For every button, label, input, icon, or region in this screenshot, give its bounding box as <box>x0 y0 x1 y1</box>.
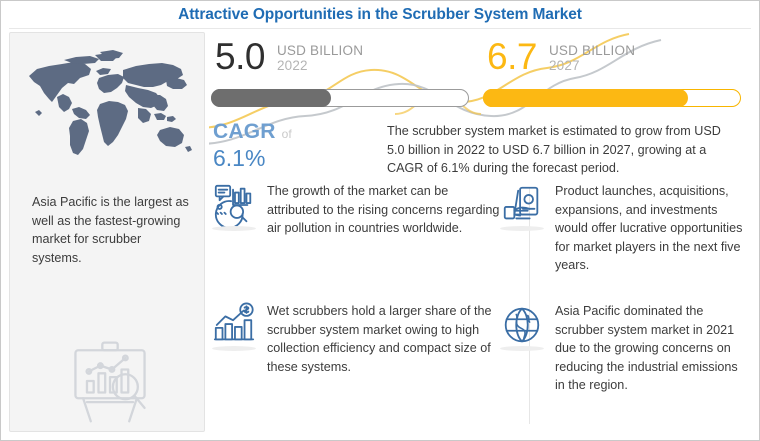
insight-card: Product launches, acquisitions, expansio… <box>499 182 753 275</box>
main-content: 5.0 USD BILLION 2022 6.7 USD BILLION 202… <box>209 32 753 432</box>
globe-icon <box>499 302 545 348</box>
progress-fill-2027 <box>483 89 688 107</box>
stat-year-2027: 2027 <box>549 58 635 74</box>
cagr-value: 6.1% <box>213 145 383 171</box>
insight-cards: The growth of the market can be attribut… <box>209 182 753 430</box>
progress-bar-2027 <box>483 89 741 107</box>
insight-card-text: Product launches, acquisitions, expansio… <box>555 182 747 275</box>
stat-unit-2022: USD BILLION 2022 <box>277 38 363 74</box>
icon-shadow <box>500 346 544 351</box>
title-divider <box>9 28 751 29</box>
stat-unit-label-2027: USD BILLION <box>549 43 635 58</box>
cagr-block: CAGR of 6.1% <box>213 120 383 171</box>
world-map-icon <box>20 47 196 167</box>
icon-shadow <box>500 226 544 231</box>
market-analytics-icon <box>211 182 257 228</box>
stat-unit-label-2022: USD BILLION <box>277 43 363 58</box>
left-highlight-text: Asia Pacific is the largest as well as t… <box>32 193 192 267</box>
page-title: Attractive Opportunities in the Scrubber… <box>178 6 582 24</box>
cash-money-icon <box>499 182 545 228</box>
insight-card: Asia Pacific dominated the scrubber syst… <box>499 302 753 395</box>
title-bar: Attractive Opportunities in the Scrubber… <box>1 1 759 28</box>
progress-fill-2022 <box>211 89 331 107</box>
insight-card-text: The growth of the market can be attribut… <box>267 182 503 238</box>
insight-card-text: Asia Pacific dominated the scrubber syst… <box>555 302 747 395</box>
left-region-panel: Asia Pacific is the largest as well as t… <box>9 32 205 432</box>
progress-bar-2022 <box>211 89 469 107</box>
stat-2022: 5.0 USD BILLION 2022 <box>209 38 477 116</box>
market-description: The scrubber system market is estimated … <box>387 122 739 178</box>
insight-card-text: Wet scrubbers hold a larger share of the… <box>267 302 503 376</box>
stat-value-2022: 5.0 <box>215 38 265 75</box>
stat-value-2027: 6.7 <box>487 38 537 75</box>
icon-shadow <box>212 346 256 351</box>
insight-card: The growth of the market can be attribut… <box>211 182 511 238</box>
stat-year-2022: 2022 <box>277 58 363 74</box>
bar-chart-growth-icon <box>211 302 257 348</box>
cagr-label: CAGR <box>213 120 276 144</box>
icon-shadow <box>212 226 256 231</box>
infographic-root: Attractive Opportunities in the Scrubber… <box>0 0 760 441</box>
presentation-analytics-icon <box>62 333 158 429</box>
stat-unit-2027: USD BILLION 2027 <box>549 38 635 74</box>
stat-2027: 6.7 USD BILLION 2027 <box>481 38 749 116</box>
insight-card: Wet scrubbers hold a larger share of the… <box>211 302 511 376</box>
cagr-of-label: of <box>282 127 292 141</box>
